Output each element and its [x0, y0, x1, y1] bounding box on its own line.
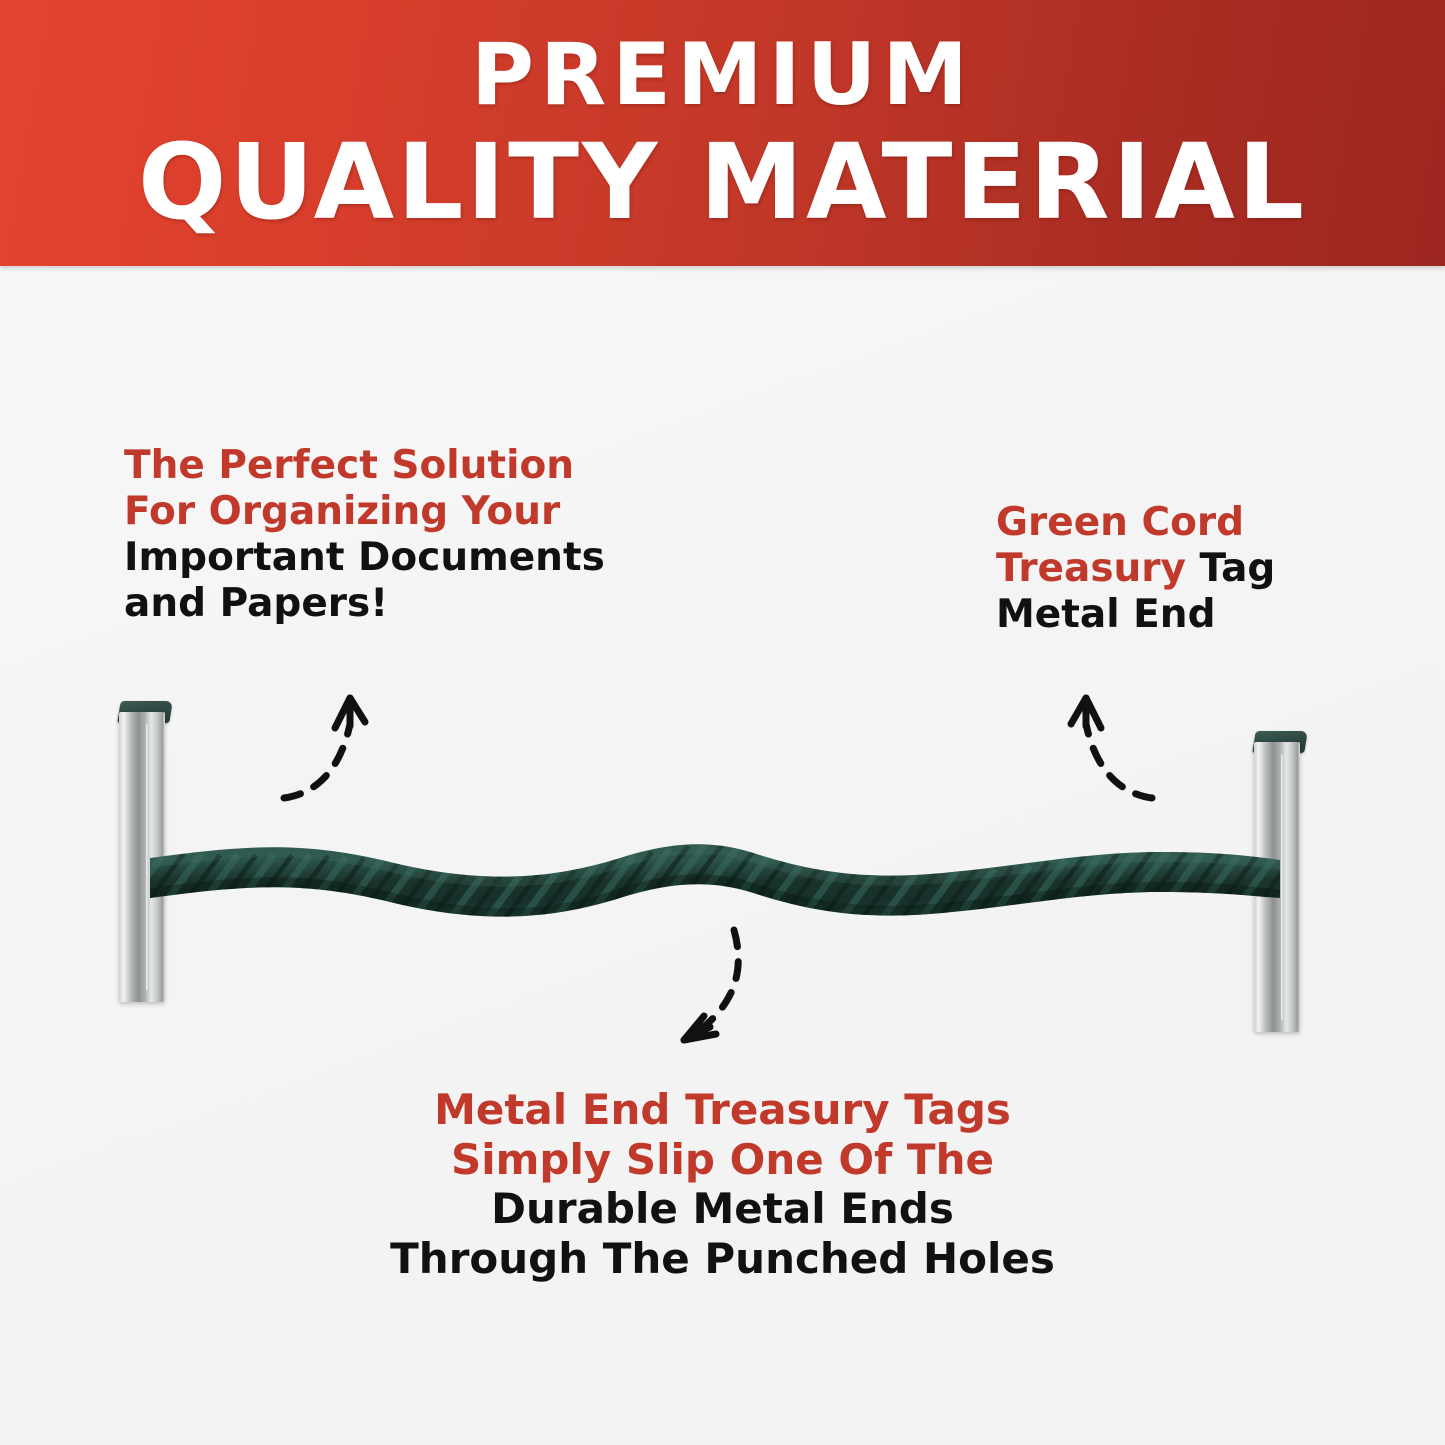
metal-end-tip-left — [117, 701, 172, 723]
cord-twist-strands — [150, 841, 1280, 926]
callout-right-line2-red: Treasury — [996, 546, 1200, 591]
callout-bottom: Metal End Treasury Tags Simply Slip One … — [0, 1085, 1445, 1283]
infographic-page: PREMIUM QUALITY MATERIAL — [0, 0, 1445, 1445]
banner-title-line2: QUALITY MATERIAL — [138, 130, 1307, 234]
callout-bottom-line3: Durable Metal Ends — [0, 1184, 1445, 1234]
metal-end-bar-right — [1254, 742, 1300, 1032]
callout-left-line3: Important Documents — [124, 535, 605, 581]
cord-svg — [150, 818, 1280, 926]
callout-right-line2-black: Tag — [1200, 546, 1276, 591]
metal-end-tip-right — [1252, 731, 1307, 753]
callout-bottom-line1: Metal End Treasury Tags — [0, 1085, 1445, 1135]
header-banner: PREMIUM QUALITY MATERIAL — [0, 0, 1445, 266]
callout-right-line3: Metal End — [996, 592, 1275, 638]
callout-bottom-line2: Simply Slip One Of The — [0, 1135, 1445, 1185]
callout-bottom-line4: Through The Punched Holes — [0, 1234, 1445, 1284]
arrow-to-left-callout-icon — [262, 676, 412, 816]
cord-body — [150, 844, 1280, 916]
callout-right-line1: Green Cord — [996, 500, 1275, 546]
callout-left-line1: The Perfect Solution — [124, 443, 605, 489]
callout-left: The Perfect Solution For Organizing Your… — [124, 443, 605, 627]
twisted-green-cord — [150, 818, 1280, 926]
callout-right: Green Cord Treasury Tag Metal End — [996, 500, 1275, 638]
metal-end-bar-left — [119, 712, 165, 1002]
callout-left-line4: and Papers! — [124, 581, 605, 627]
arrow-to-bottom-callout-icon — [648, 908, 798, 1058]
callout-left-line2: For Organizing Your — [124, 489, 605, 535]
callout-right-line2: Treasury Tag — [996, 546, 1275, 592]
banner-title-line1: PREMIUM — [471, 32, 974, 118]
arrow-to-right-callout-icon — [1040, 676, 1190, 816]
header-banner-text: PREMIUM QUALITY MATERIAL — [0, 0, 1445, 266]
